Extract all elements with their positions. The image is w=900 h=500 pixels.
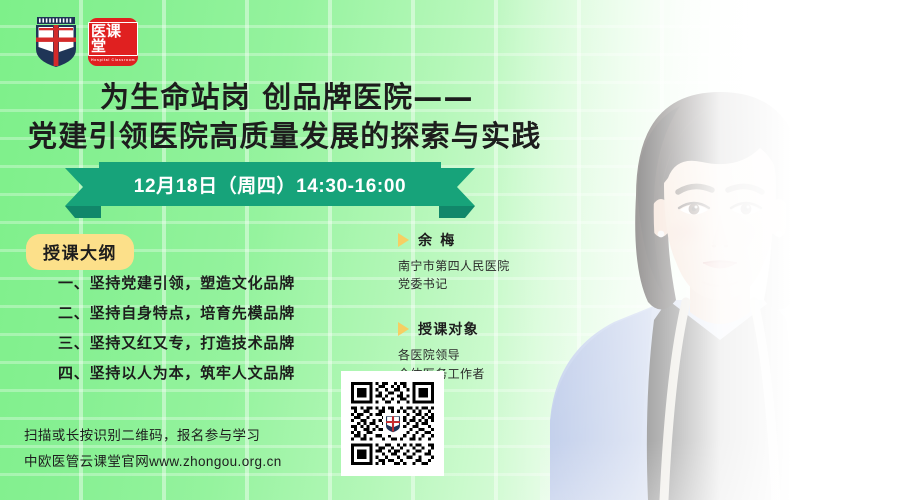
speaker-name: 余 梅 <box>418 230 457 250</box>
qr-code[interactable] <box>341 371 444 476</box>
brand-logo-en: Hospital Classroom <box>91 59 135 62</box>
footer-line-1: 扫描或长按识别二维码，报名参与学习 <box>24 424 282 444</box>
date-time-ribbon: 12月18日（周四）14:30-16:00 <box>65 162 475 218</box>
ribbon-text: 12月18日（周四）14:30-16:00 <box>65 162 475 206</box>
audience-title: 授课对象 <box>418 319 479 339</box>
webinar-poster: 医课堂 Hospital Classroom 为生命站岗 创品牌医院—— 党建引… <box>0 0 900 500</box>
logo-row: 医课堂 Hospital Classroom <box>33 16 138 68</box>
qr-center-logo <box>383 413 403 435</box>
qr-code-pattern <box>348 378 437 469</box>
outline-item: 三、坚持又红又专，打造技术品牌 <box>58 332 295 353</box>
speaker-role: 党委书记 <box>398 275 588 293</box>
speaker-block: 余 梅 南宁市第四人民医院 党委书记 <box>398 230 588 293</box>
poster-title: 为生命站岗 创品牌医院—— 党建引领医院高质量发展的探索与实践 <box>100 78 560 155</box>
outline-item: 一、坚持党建引领，塑造文化品牌 <box>58 272 295 293</box>
shield-cross-logo <box>385 414 401 433</box>
speaker-org: 南宁市第四人民医院 <box>398 257 588 275</box>
title-line-1: 为生命站岗 创品牌医院—— <box>100 78 560 117</box>
footer-line-2: 中欧医管云课堂官网www.zhongou.org.cn <box>24 450 282 470</box>
brand-logo-cn: 医课堂 <box>88 22 138 56</box>
outline-list: 一、坚持党建引领，塑造文化品牌 二、坚持自身特点，培育先模品牌 三、坚持又红又专… <box>58 272 295 383</box>
info-column: 余 梅 南宁市第四人民医院 党委书记 授课对象 各医院领导 全体医务工作者 <box>398 230 588 383</box>
triangle-bullet-icon <box>398 322 409 336</box>
footer-text: 扫描或长按识别二维码，报名参与学习 中欧医管云课堂官网www.zhongou.o… <box>24 424 282 470</box>
yiketang-logo: 医课堂 Hospital Classroom <box>88 18 138 66</box>
title-line-2: 党建引领医院高质量发展的探索与实践 <box>28 117 560 156</box>
audience-line-1: 各医院领导 <box>398 346 588 364</box>
triangle-bullet-icon <box>398 233 409 247</box>
outline-item: 二、坚持自身特点，培育先模品牌 <box>58 302 295 323</box>
outline-badge: 授课大纲 <box>26 234 134 270</box>
speaker-heading: 余 梅 <box>398 230 588 250</box>
audience-heading: 授课对象 <box>398 319 588 339</box>
outline-item: 四、坚持以人为本，筑牢人文品牌 <box>58 362 295 383</box>
shield-cross-logo <box>33 16 79 68</box>
